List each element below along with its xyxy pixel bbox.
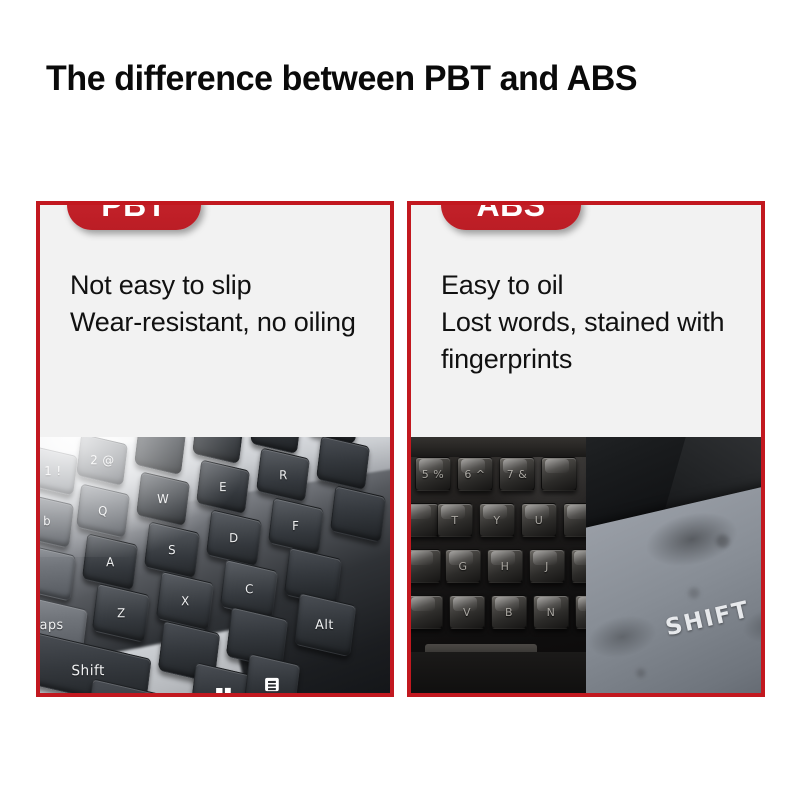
key-shine bbox=[545, 459, 569, 472]
key-h-label: H bbox=[501, 560, 510, 573]
key-shift-label: Shift bbox=[71, 663, 105, 680]
key-q-label: Q bbox=[98, 504, 108, 518]
key-6-label: 6 ^ bbox=[464, 468, 485, 481]
key-alt-label: Alt bbox=[316, 617, 335, 632]
clean-keyboard-illustration: 1 ! 2 @ b Q W E R A S D F bbox=[40, 437, 390, 693]
key-tab-label: b bbox=[43, 514, 51, 528]
key-shine bbox=[411, 551, 433, 564]
key-6: 6 ^ bbox=[457, 457, 493, 491]
comparison-panel-pbt: PBT Not easy to slip Wear-resistant, no … bbox=[36, 201, 394, 697]
key-u-label: U bbox=[535, 514, 544, 527]
key-n-label: N bbox=[547, 606, 556, 619]
key-s-label: S bbox=[168, 543, 176, 557]
key-z: Z bbox=[92, 583, 150, 643]
comparison-section: PBT Not easy to slip Wear-resistant, no … bbox=[0, 0, 800, 800]
key-d: D bbox=[206, 509, 262, 567]
key-y: Y bbox=[479, 503, 515, 537]
key-b: B bbox=[491, 595, 527, 629]
key-t bbox=[316, 437, 370, 491]
key-g: G bbox=[445, 549, 481, 583]
key-h: H bbox=[487, 549, 523, 583]
key-8 bbox=[541, 457, 577, 491]
key-c bbox=[411, 595, 443, 629]
key-j-label: J bbox=[545, 560, 549, 573]
pbt-photo: 1 ! 2 @ b Q W E R A S D F bbox=[40, 437, 390, 693]
key-5: 5 % bbox=[415, 457, 451, 491]
abs-description: Easy to oil Lost words, stained with fin… bbox=[411, 205, 761, 437]
dirty-shift-illustration: SHIFT bbox=[586, 437, 761, 693]
key-t-label: T bbox=[451, 514, 458, 527]
key-alt: Alt bbox=[294, 593, 357, 658]
key-1-label: 1 ! bbox=[44, 464, 61, 478]
key-s: S bbox=[144, 521, 200, 579]
key-z-label: Z bbox=[117, 606, 126, 620]
key-shine bbox=[574, 551, 586, 564]
key-r bbox=[411, 503, 439, 537]
keyboard-lower-deck bbox=[411, 652, 586, 693]
key-a: A bbox=[82, 533, 138, 591]
pbt-line-1: Not easy to slip bbox=[70, 267, 376, 304]
key-i bbox=[563, 503, 586, 537]
key-shine bbox=[411, 505, 431, 518]
key-7: 7 & bbox=[499, 457, 535, 491]
badge-pbt: PBT bbox=[67, 201, 201, 230]
key-d-label: D bbox=[229, 531, 239, 545]
key-shine bbox=[567, 505, 586, 518]
key-v-label: V bbox=[463, 606, 471, 619]
key-r-label: R bbox=[279, 468, 288, 482]
abs-line-1: Easy to oil bbox=[441, 267, 747, 304]
pbt-description: Not easy to slip Wear-resistant, no oili… bbox=[40, 205, 390, 437]
key-menu bbox=[244, 653, 301, 693]
abs-photo-pair: 5 % 6 ^ 7 & bbox=[411, 437, 761, 693]
key-f: F bbox=[268, 497, 324, 555]
key-u: U bbox=[521, 503, 557, 537]
key-y-label: Y bbox=[493, 514, 500, 527]
pbt-line-2: Wear-resistant, no oiling bbox=[70, 304, 376, 341]
key-7-label: 7 & bbox=[507, 468, 528, 481]
key-m-label: M bbox=[585, 606, 586, 619]
key-f-label: F bbox=[292, 519, 299, 533]
key-v: V bbox=[449, 595, 485, 629]
abs-line-2: Lost words, stained with fingerprints bbox=[441, 304, 747, 378]
windows-key-icon bbox=[216, 687, 231, 693]
key-w-label: W bbox=[157, 492, 169, 506]
comparison-panel-abs: ABS Easy to oil Lost words, stained with… bbox=[407, 201, 765, 697]
greasy-keyboard-illustration: 5 % 6 ^ 7 & bbox=[411, 437, 586, 693]
key-k bbox=[571, 549, 586, 583]
key-j: J bbox=[529, 549, 565, 583]
key-n: N bbox=[533, 595, 569, 629]
abs-photo: 5 % 6 ^ 7 & bbox=[411, 437, 761, 693]
key-g-label: G bbox=[458, 560, 467, 573]
key-shine bbox=[411, 597, 435, 610]
key-f bbox=[411, 549, 441, 583]
key-capslock-part bbox=[40, 542, 76, 601]
key-a-label: A bbox=[106, 555, 115, 569]
key-x-label: X bbox=[181, 594, 190, 608]
key-m: M bbox=[575, 595, 586, 629]
key-e-label: E bbox=[219, 480, 227, 494]
key-2-label: 2 @ bbox=[90, 453, 114, 467]
key-5-label: 5 % bbox=[422, 468, 444, 481]
key-t: T bbox=[437, 503, 473, 537]
badge-abs: ABS bbox=[441, 201, 581, 230]
key-b-label: B bbox=[505, 606, 513, 619]
key-c-label: C bbox=[245, 582, 254, 596]
key-caps-label: Caps bbox=[40, 617, 64, 633]
key-g bbox=[330, 485, 386, 543]
keyboard-top-bezel bbox=[411, 437, 586, 457]
menu-key-icon bbox=[265, 677, 279, 690]
